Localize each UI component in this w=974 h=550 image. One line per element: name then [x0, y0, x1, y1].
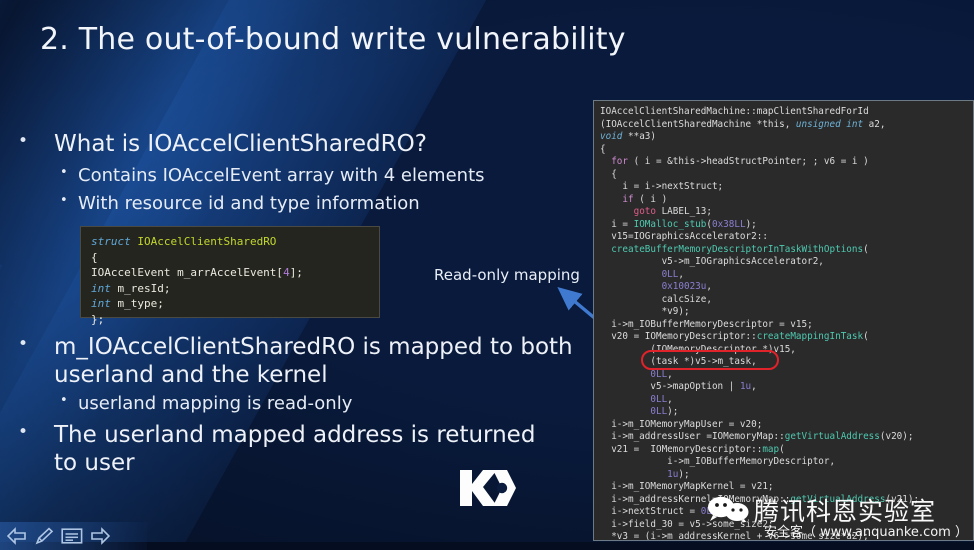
vulnerability-highlight-ring	[641, 350, 779, 370]
code-token: createMappingInTask	[757, 331, 863, 342]
ida-line-22: v5->mapOption | 1u,	[600, 381, 973, 394]
code-token: ];	[290, 266, 303, 279]
code-token: a2,	[869, 119, 886, 130]
ida-line-12: v5->m_IOGraphicsAccelerator2,	[600, 256, 973, 269]
code-token: map	[762, 444, 779, 455]
code-token: void	[600, 131, 628, 142]
code-token	[600, 469, 667, 480]
code-token: IOAccelEvent m_arrAccelEvent[	[91, 266, 283, 279]
code-token	[600, 269, 662, 280]
code-token: IOAccelClientSharedMachine::mapClientSha…	[600, 106, 869, 117]
slide-title: 2. The out-of-bound write vulnerability	[40, 22, 626, 57]
code-token: ( i = &this->headStructPointer; ; v6 = i…	[628, 156, 869, 167]
code-token	[600, 244, 611, 255]
ida-line-21: 0LL,	[600, 369, 973, 382]
code-token: m_resId;	[118, 282, 171, 295]
code-token: i->m_IOBufferMemoryDescriptor,	[600, 456, 835, 467]
struct-line-4: int m_type;	[91, 296, 379, 312]
code-token: v5->mapOption |	[600, 381, 740, 392]
code-token: 0x38LL	[712, 219, 746, 230]
bullet-marker: •	[60, 164, 78, 183]
ida-line-8: goto LABEL_13;	[600, 206, 973, 219]
bullet-marker: •	[18, 333, 54, 356]
keen-lab-logo	[458, 466, 518, 510]
watermark: 腾讯科恩实验室 安全客（ www.anquanke.com ）	[706, 494, 974, 546]
wechat-icon	[706, 496, 750, 522]
bullet-with-resource: • With resource id and type information	[60, 192, 420, 215]
bullet-text: Contains IOAccelEvent array with 4 eleme…	[78, 164, 485, 187]
code-token: 1u	[740, 381, 751, 392]
code-token: i =	[600, 219, 634, 230]
ida-line-6: i = i->nextStruct;	[600, 181, 973, 194]
code-token: i->m_IOMemoryMapUser = v20;	[600, 419, 762, 430]
code-token: (v20);	[880, 431, 914, 442]
ida-line-26: i->m_addressUser =IOMemoryMap::getVirtua…	[600, 431, 973, 444]
ida-line-1: (IOAccelClientSharedMachine *this, unsig…	[600, 119, 973, 132]
code-token: (	[863, 331, 869, 342]
code-token: **a3)	[628, 131, 656, 142]
slide-notes-icon[interactable]	[61, 527, 83, 545]
bullet-marker: •	[60, 192, 78, 211]
bullet-marker: •	[18, 421, 54, 444]
code-token: i->m_IOMemoryMapKernel = v21;	[600, 481, 774, 492]
ida-line-17: i->m_IOBufferMemoryDescriptor = v15;	[600, 319, 973, 332]
ida-line-18: v20 = IOMemoryDescriptor::createMappingI…	[600, 331, 973, 344]
ida-line-13: 0LL,	[600, 269, 973, 282]
code-token: i->m_IOBufferMemoryDescriptor = v15;	[600, 319, 813, 330]
code-token: 0LL	[650, 369, 667, 380]
code-token: };	[91, 313, 104, 326]
ida-line-9: i = IOMalloc_stub(0x38LL);	[600, 219, 973, 232]
code-token: i->m_addressUser =IOMemoryMap::	[600, 431, 785, 442]
bullet-text: With resource id and type information	[78, 192, 420, 215]
code-token: {	[91, 251, 98, 264]
code-token: m_type;	[118, 297, 164, 310]
ida-line-23: 0LL,	[600, 394, 973, 407]
ida-line-0: IOAccelClientSharedMachine::mapClientSha…	[600, 106, 973, 119]
struct-line-1: {	[91, 250, 379, 266]
code-token: );	[678, 469, 689, 480]
code-token: v5->m_IOGraphicsAccelerator2,	[600, 256, 824, 267]
code-token: LABEL_13;	[656, 206, 712, 217]
code-token: (	[779, 444, 785, 455]
code-token: ,	[678, 269, 684, 280]
code-token	[600, 156, 611, 167]
ida-line-5: {	[600, 169, 973, 182]
struct-line-3: int m_resId;	[91, 281, 379, 297]
bullet-marker: •	[18, 130, 54, 153]
code-token: v21 = IOMemoryDescriptor::	[600, 444, 762, 455]
watermark-site: 安全客（ www.anquanke.com ）	[764, 521, 968, 540]
code-token: i = i->nextStruct;	[600, 181, 723, 192]
bullet-marker: •	[60, 392, 78, 411]
code-token: 4	[283, 266, 290, 279]
code-token	[600, 406, 650, 417]
bullet-text: userland mapping is read-only	[78, 392, 352, 415]
ida-line-3: {	[600, 144, 973, 157]
bullet-contains: • Contains IOAccelEvent array with 4 ele…	[60, 164, 485, 187]
presentation-slide: 2. The out-of-bound write vulnerability …	[0, 0, 974, 550]
code-token: i->nextStruct =	[600, 506, 701, 517]
code-token: getVirtualAddress	[785, 431, 880, 442]
code-token: v20 = IOMemoryDescriptor::	[600, 331, 757, 342]
ida-line-4: for ( i = &this->headStructPointer; ; v6…	[600, 156, 973, 169]
ida-line-7: if ( i )	[600, 194, 973, 207]
ida-line-24: 0LL);	[600, 406, 973, 419]
code-token	[600, 206, 634, 217]
code-token: ,	[706, 281, 712, 292]
struct-line-2: IOAccelEvent m_arrAccelEvent[4];	[91, 265, 379, 281]
code-token: int	[91, 282, 118, 295]
bullet-read-only: • userland mapping is read-only	[60, 392, 352, 415]
code-token	[600, 394, 650, 405]
code-token: );	[746, 219, 757, 230]
code-token: (IOAccelClientSharedMachine *this,	[600, 119, 796, 130]
struct-line-5: };	[91, 312, 379, 328]
code-token: );	[667, 406, 678, 417]
code-token: 0x10023u	[662, 281, 707, 292]
code-token: 0LL	[650, 394, 667, 405]
bullet-text: m_IOAccelClientSharedRO is mapped to bot…	[54, 333, 578, 389]
code-token: {	[600, 169, 617, 180]
code-token: 0LL	[662, 269, 679, 280]
code-token: ,	[751, 381, 757, 392]
bullet-text: What is IOAccelClientSharedRO?	[54, 130, 427, 158]
code-token: *v9);	[600, 306, 690, 317]
ida-line-14: 0x10023u,	[600, 281, 973, 294]
code-token: ,	[667, 369, 673, 380]
code-token	[600, 194, 622, 205]
ida-line-11: createBufferMemoryDescriptorInTaskWithOp…	[600, 244, 973, 257]
code-token	[600, 281, 662, 292]
ida-line-27: v21 = IOMemoryDescriptor::map(	[600, 444, 973, 457]
arrow-right-icon[interactable]	[90, 527, 110, 545]
code-token: IOAccelClientSharedRO	[137, 235, 276, 248]
code-token: calcSize,	[600, 294, 712, 305]
bullet-what-is: • What is IOAccelClientSharedRO?	[18, 130, 427, 158]
code-token: (	[863, 244, 869, 255]
slideshow-toolbar[interactable]	[0, 522, 147, 550]
pen-icon[interactable]	[34, 527, 54, 545]
code-token: struct	[91, 235, 137, 248]
ida-line-25: i->m_IOMemoryMapUser = v20;	[600, 419, 973, 432]
ida-line-29: 1u);	[600, 469, 973, 482]
code-token	[600, 369, 650, 380]
code-token: ,	[667, 394, 673, 405]
code-token: for	[611, 156, 628, 167]
code-token: 0LL	[650, 406, 667, 417]
code-token: {	[600, 144, 606, 155]
ida-line-28: i->m_IOBufferMemoryDescriptor,	[600, 456, 973, 469]
ida-line-10: v15=IOGraphicsAccelerator2::	[600, 231, 973, 244]
bullet-mapped-to: • m_IOAccelClientSharedRO is mapped to b…	[18, 333, 578, 389]
struct-code-block: struct IOAccelClientSharedRO{ IOAccelEve…	[80, 226, 380, 318]
code-token: v15=IOGraphicsAccelerator2::	[600, 231, 768, 242]
code-token: int	[91, 297, 118, 310]
arrow-left-icon[interactable]	[7, 527, 27, 545]
struct-line-0: struct IOAccelClientSharedRO	[91, 234, 379, 250]
code-token: unsigned int	[796, 119, 869, 130]
code-token: if	[622, 194, 633, 205]
code-token: ( i )	[634, 194, 668, 205]
code-token: createBufferMemoryDescriptorInTaskWithOp…	[611, 244, 863, 255]
ida-line-16: *v9);	[600, 306, 973, 319]
ida-line-2: void **a3)	[600, 131, 973, 144]
ida-line-15: calcSize,	[600, 294, 973, 307]
code-token: IOMalloc_stub	[634, 219, 707, 230]
code-token: goto	[634, 206, 656, 217]
ida-pseudocode-panel[interactable]: IOAccelClientSharedMachine::mapClientSha…	[593, 100, 974, 541]
code-token: 1u	[667, 469, 678, 480]
